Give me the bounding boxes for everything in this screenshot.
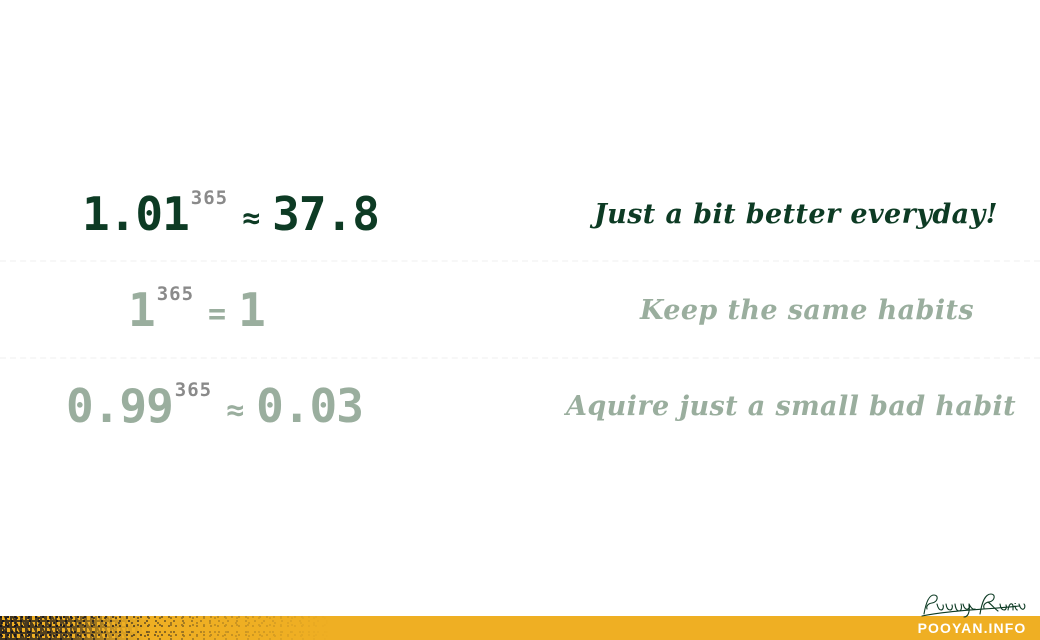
equation-expression: 1.01365≈37.8 [0,191,552,238]
equation-result: 0.03 [256,383,363,429]
equation-row: 0.99365≈0.03 Aquire just a small bad hab… [0,358,1040,454]
equation-base: 0.99 [66,383,173,429]
equation-expression: 1365=1 [0,287,598,334]
equation-operator: ≈ [242,201,260,236]
equation-exponent: 365 [157,283,194,305]
equation-caption: Keep the same habits [598,295,1040,326]
equation-row: 1365=1 Keep the same habits [0,262,1040,358]
signature-icon [916,590,1028,618]
brand-watermark: POOYAN.INFO [916,590,1028,640]
footer-grain-dense-texture [0,616,150,640]
equation-base: 1.01 [82,191,189,237]
equation-exponent: 365 [175,379,212,401]
equation-base: 1 [128,287,155,333]
brand-domain-text[interactable]: POOYAN.INFO [916,620,1028,636]
equation-caption: Just a bit better everyday! [552,199,1040,230]
equation-operator: = [208,297,226,332]
equation-operator: ≈ [226,393,244,428]
equation-result: 1 [238,287,265,333]
slide-canvas: 1.01365≈37.8 Just a bit better everyday!… [0,0,1040,640]
equation-row: 1.01365≈37.8 Just a bit better everyday! [0,166,1040,262]
equation-result: 37.8 [272,191,379,237]
equation-exponent: 365 [191,187,228,209]
equation-caption: Aquire just a small bad habit [536,391,1040,422]
equation-expression: 0.99365≈0.03 [0,383,536,430]
footer-band [0,616,1040,640]
